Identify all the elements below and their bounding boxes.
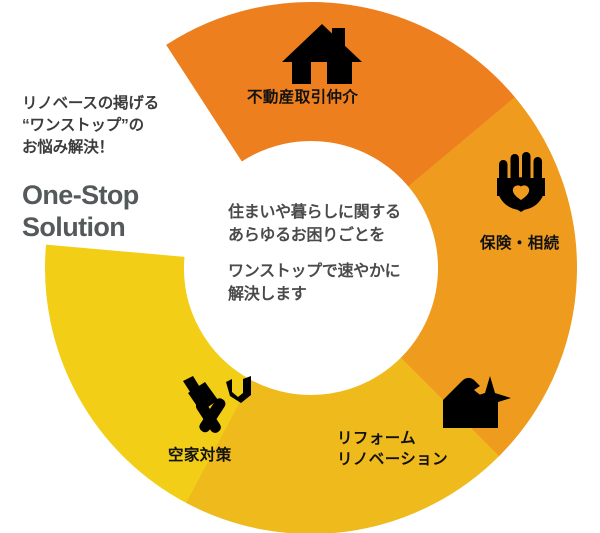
- lead-line-2: “ワンストップ”の: [22, 115, 222, 137]
- heading-one-stop: One-Stop Solution: [22, 180, 222, 244]
- center-line-4: 解決します: [228, 283, 458, 306]
- segment-label-reform[interactable]: リフォーム リノベーション: [337, 429, 448, 471]
- lead-line-3: お悩み解決！: [22, 137, 222, 159]
- center-line-2: あらゆるお困りごとを: [228, 224, 458, 247]
- heading-line-1: One-Stop: [22, 180, 222, 212]
- lead-line-1: リノベースの掲げる: [22, 93, 222, 115]
- center-line-3: ワンストップで速やかに: [228, 260, 458, 283]
- center-line-1: 住まいや暮らしに関する: [228, 201, 458, 224]
- segment-label-reform-line-1: リフォーム: [337, 429, 448, 450]
- one-stop-solution-diagram: リノベースの掲げる “ワンストップ”の お悩み解決！ One-Stop Solu…: [0, 0, 600, 533]
- segment-label-reform-line-2: リノベーション: [337, 450, 448, 471]
- segment-label-real-estate[interactable]: 不動産取引仲介: [247, 88, 358, 109]
- segment-label-insurance[interactable]: 保険・相続: [480, 234, 560, 255]
- heading-line-2: Solution: [22, 212, 222, 244]
- center-description: 住まいや暮らしに関する あらゆるお困りごとを ワンストップで速やかに 解決します: [228, 201, 458, 306]
- headline-block: リノベースの掲げる “ワンストップ”の お悩み解決！ One-Stop Solu…: [22, 93, 222, 244]
- segment-label-vacant-house[interactable]: 空家対策: [168, 446, 232, 467]
